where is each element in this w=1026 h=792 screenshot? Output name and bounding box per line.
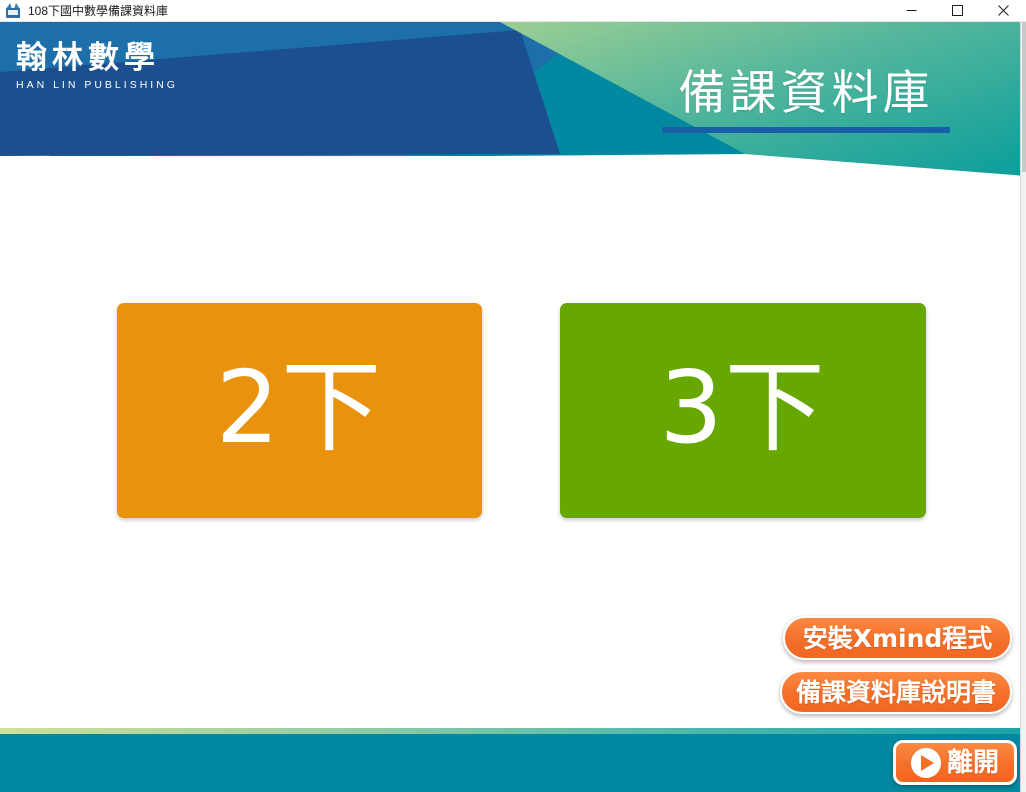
- install-xmind-label: 安裝Xmind程式: [803, 626, 993, 651]
- maximize-button[interactable]: [934, 0, 980, 21]
- minimize-button[interactable]: [888, 0, 934, 21]
- window-titlebar: 108下國中數學備課資料庫: [0, 0, 1026, 22]
- exit-button[interactable]: 離開: [893, 740, 1017, 785]
- footer-bar: [0, 734, 1026, 792]
- close-icon: [998, 5, 1009, 16]
- minimize-icon: [906, 5, 917, 16]
- grade-button-label: 2下: [216, 358, 384, 458]
- app-icon: [5, 3, 21, 19]
- grade-button-2nd-semester-3[interactable]: 3下: [560, 303, 926, 518]
- grade-button-label: 3下: [659, 358, 827, 458]
- brand-logo-en: HAN LIN PUBLISHING: [16, 78, 246, 92]
- maximize-icon: [952, 5, 963, 16]
- manual-button[interactable]: 備課資料庫說明書: [780, 670, 1012, 714]
- main-content: 2下 3下 安裝Xmind程式 備課資料庫說明書: [0, 182, 1026, 728]
- install-xmind-button[interactable]: 安裝Xmind程式: [783, 616, 1012, 660]
- header-banner: 翰林數學 HAN LIN PUBLISHING 備課資料庫: [0, 22, 1026, 182]
- close-button[interactable]: [980, 0, 1026, 21]
- application-window: 108下國中數學備課資料庫: [0, 0, 1026, 792]
- vertical-scrollbar[interactable]: [1020, 22, 1026, 792]
- brand-logo: 翰林數學 HAN LIN PUBLISHING: [16, 40, 246, 92]
- play-triangle-icon: [911, 748, 941, 778]
- page-title: 備課資料庫: [662, 66, 950, 122]
- exit-button-label: 離開: [947, 750, 999, 776]
- scrollbar-thumb[interactable]: [1022, 22, 1026, 172]
- header-title-group: 備課資料庫: [662, 66, 950, 133]
- window-title: 108下國中數學備課資料庫: [28, 0, 168, 22]
- grade-button-2nd-semester-2[interactable]: 2下: [117, 303, 482, 518]
- manual-label: 備課資料庫說明書: [796, 680, 996, 705]
- brand-logo-cn: 翰林數學: [16, 40, 246, 76]
- page-title-underline: [662, 127, 950, 133]
